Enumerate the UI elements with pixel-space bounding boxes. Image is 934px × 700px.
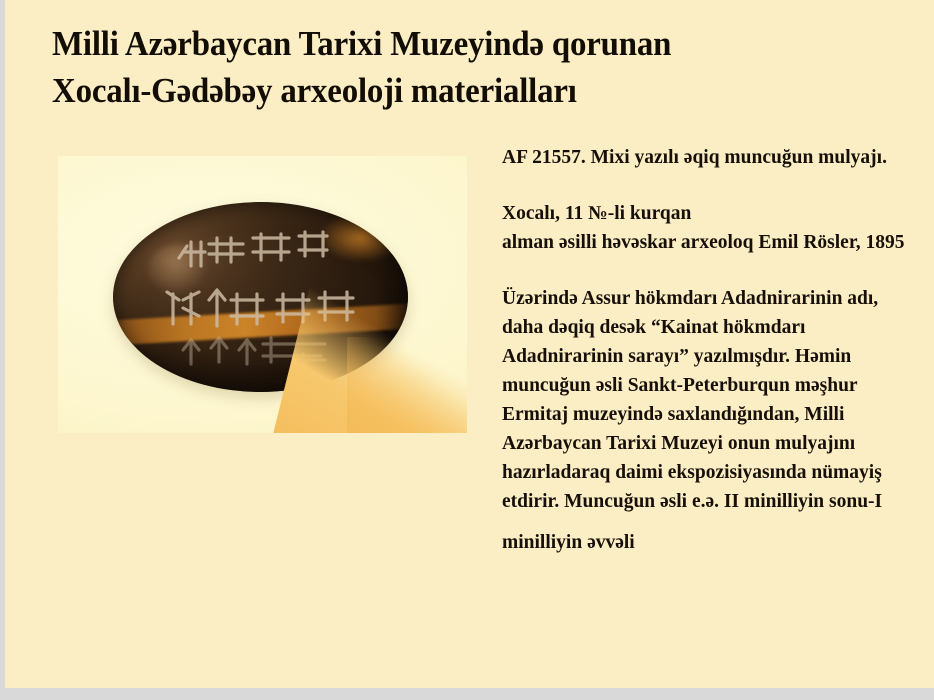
caption-description-tail: minilliyin əvvəli <box>502 528 912 557</box>
caption-provenance: Xocalı, 11 №-li kurqan alman əsilli həvə… <box>502 199 912 257</box>
photo-corner-gradient-inner <box>347 337 467 433</box>
window-bottom-border <box>0 688 934 700</box>
artifact-photo <box>58 156 467 433</box>
page-title: Milli Azərbaycan Tarixi Muzeyində qoruna… <box>52 20 842 114</box>
caption-description: Üzərində Assur hökmdarı Adadnirarinin ad… <box>502 284 912 516</box>
presentation-slide: Milli Azərbaycan Tarixi Muzeyində qoruna… <box>5 0 934 688</box>
caption-inventory: AF 21557. Mixi yazılı əqiq muncuğun muly… <box>502 143 912 172</box>
caption-column: AF 21557. Mixi yazılı əqiq muncuğun muly… <box>502 143 912 557</box>
